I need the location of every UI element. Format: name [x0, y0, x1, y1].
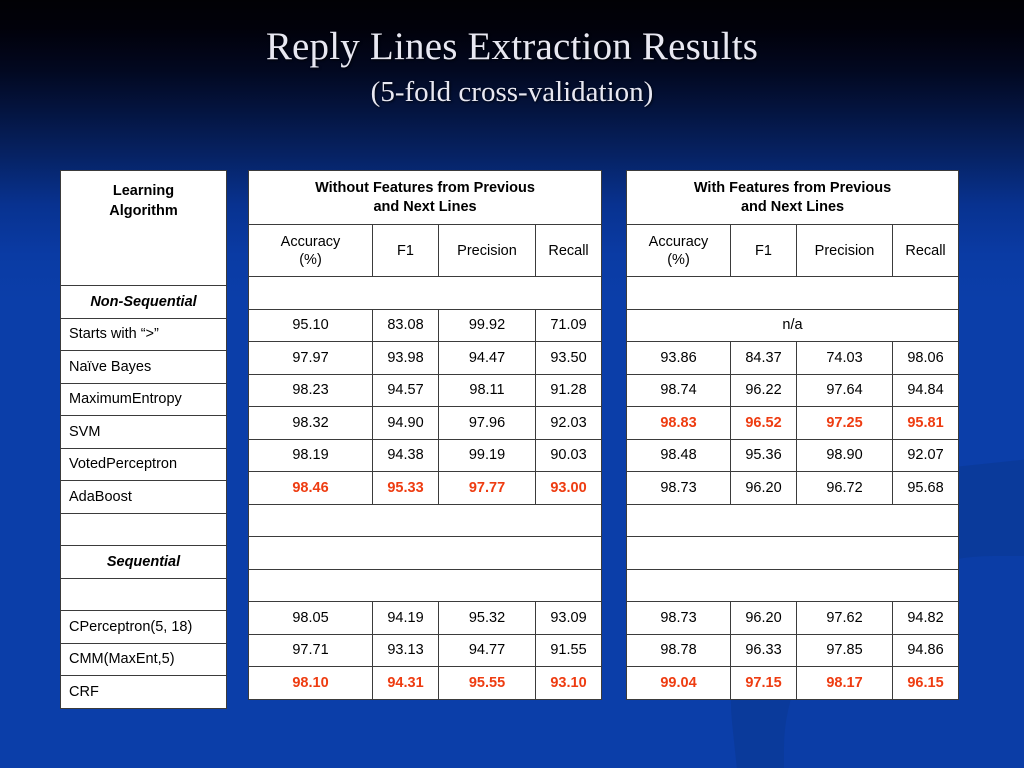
empty-cell: [249, 277, 602, 310]
value-accuracy: 98.74: [627, 374, 731, 407]
column-header-f1: F1: [373, 225, 439, 277]
value-recall: 93.50: [536, 342, 602, 375]
value-f1: 96.20: [731, 602, 797, 635]
table-row: [249, 537, 602, 570]
column-header-accuracy: Accuracy(%): [249, 225, 373, 277]
empty-cell: [627, 537, 959, 570]
page-title: Reply Lines Extraction Results: [0, 24, 1024, 70]
value-accuracy: 98.78: [627, 634, 731, 667]
value-recall: 98.06: [893, 342, 959, 375]
algorithm-name-cell: Starts with “>”: [61, 318, 227, 351]
empty-cell: [249, 569, 602, 602]
value-recall: 94.82: [893, 602, 959, 635]
value-accuracy: 98.19: [249, 439, 373, 472]
table-row: 98.7496.2297.6494.84: [627, 374, 959, 407]
table-row: CPerceptron(5, 18): [61, 611, 227, 644]
without-features-table: Without Features from Previousand Next L…: [248, 170, 602, 700]
column-header-f1: F1: [731, 225, 797, 277]
value-f1: 96.22: [731, 374, 797, 407]
column-header-precision: Precision: [439, 225, 536, 277]
value-precision: 74.03: [797, 342, 893, 375]
table-row: Without Features from Previousand Next L…: [249, 171, 602, 225]
table-row: LearningAlgorithm: [61, 171, 227, 286]
value-precision: 99.19: [439, 439, 536, 472]
table-row: 98.0594.1995.3293.09: [249, 602, 602, 635]
column-header-recall: Recall: [893, 225, 959, 277]
value-f1: 95.36: [731, 439, 797, 472]
algorithm-name-cell: [61, 513, 227, 546]
algorithm-name-cell: [61, 578, 227, 611]
with-features-body: With Features from Previousand Next Line…: [627, 171, 959, 700]
table-row: CMM(MaxEnt,5): [61, 643, 227, 676]
value-recall: 91.55: [536, 634, 602, 667]
table-row: [249, 569, 602, 602]
value-f1: 96.33: [731, 634, 797, 667]
value-accuracy: 98.46: [249, 472, 373, 505]
table-row: [627, 537, 959, 570]
value-precision: 98.11: [439, 374, 536, 407]
table-row: [249, 504, 602, 537]
value-recall: 91.28: [536, 374, 602, 407]
algorithm-name-cell: CMM(MaxEnt,5): [61, 643, 227, 676]
column-header-accuracy: Accuracy(%): [627, 225, 731, 277]
value-recall: 92.03: [536, 407, 602, 440]
value-accuracy: 97.71: [249, 634, 373, 667]
value-precision: 95.55: [439, 667, 536, 700]
value-accuracy: 98.73: [627, 602, 731, 635]
empty-cell: [627, 569, 959, 602]
page-subtitle: (5-fold cross-validation): [0, 73, 1024, 111]
column-header-recall: Recall: [536, 225, 602, 277]
table-row: [249, 277, 602, 310]
empty-cell: [249, 537, 602, 570]
row-header-label: LearningAlgorithm: [61, 171, 227, 286]
value-recall: 96.15: [893, 667, 959, 700]
value-precision: 97.85: [797, 634, 893, 667]
table-row: Starts with “>”: [61, 318, 227, 351]
value-f1: 94.31: [373, 667, 439, 700]
table-row: [627, 504, 959, 537]
empty-cell: [627, 504, 959, 537]
empty-cell: [627, 277, 959, 310]
value-accuracy: 98.05: [249, 602, 373, 635]
value-precision: 96.72: [797, 472, 893, 505]
table-row: 98.1994.3899.1990.03: [249, 439, 602, 472]
algorithm-name-cell: CPerceptron(5, 18): [61, 611, 227, 644]
with-features-table: With Features from Previousand Next Line…: [626, 170, 959, 700]
slide-canvas: Reply Lines Extraction Results (5-fold c…: [0, 0, 1024, 768]
value-accuracy: 98.73: [627, 472, 731, 505]
value-f1: 96.52: [731, 407, 797, 440]
table-row: [627, 569, 959, 602]
table-row: 98.7896.3397.8594.86: [627, 634, 959, 667]
table-row: n/a: [627, 309, 959, 342]
value-f1: 83.08: [373, 309, 439, 342]
algorithm-name-cell: MaximumEntropy: [61, 383, 227, 416]
value-recall: 94.84: [893, 374, 959, 407]
value-recall: 93.00: [536, 472, 602, 505]
value-recall: 94.86: [893, 634, 959, 667]
value-f1: 94.90: [373, 407, 439, 440]
value-f1: 94.38: [373, 439, 439, 472]
table-row: 99.0497.1598.1796.15: [627, 667, 959, 700]
value-f1: 93.13: [373, 634, 439, 667]
value-accuracy: 98.83: [627, 407, 731, 440]
table-row: Accuracy(%)F1PrecisionRecall: [627, 225, 959, 277]
value-recall: 93.09: [536, 602, 602, 635]
table-row: 93.8684.3774.0398.06: [627, 342, 959, 375]
value-accuracy: 98.10: [249, 667, 373, 700]
value-precision: 94.77: [439, 634, 536, 667]
value-precision: 97.25: [797, 407, 893, 440]
column-header-precision: Precision: [797, 225, 893, 277]
value-f1: 96.20: [731, 472, 797, 505]
value-f1: 94.19: [373, 602, 439, 635]
group-header: With Features from Previousand Next Line…: [627, 171, 959, 225]
algorithm-name-table: LearningAlgorithmNon-SequentialStarts wi…: [60, 170, 227, 709]
table-row: CRF: [61, 676, 227, 709]
table-row: Accuracy(%)F1PrecisionRecall: [249, 225, 602, 277]
table-row: Non-Sequential: [61, 286, 227, 319]
table-row: 98.4895.3698.9092.07: [627, 439, 959, 472]
value-precision: 98.17: [797, 667, 893, 700]
table-row: 98.7396.2096.7295.68: [627, 472, 959, 505]
table-row: 98.1094.3195.5593.10: [249, 667, 602, 700]
table-row: Naïve Bayes: [61, 351, 227, 384]
algorithm-name-cell: AdaBoost: [61, 481, 227, 514]
table-row: 98.3294.9097.9692.03: [249, 407, 602, 440]
table-row: SVM: [61, 416, 227, 449]
value-recall: 95.68: [893, 472, 959, 505]
value-f1: 84.37: [731, 342, 797, 375]
table-row: 95.1083.0899.9271.09: [249, 309, 602, 342]
table-row: AdaBoost: [61, 481, 227, 514]
table-row: With Features from Previousand Next Line…: [627, 171, 959, 225]
table-row: VotedPerceptron: [61, 448, 227, 481]
table-row: 97.7193.1394.7791.55: [249, 634, 602, 667]
algorithm-name-cell: CRF: [61, 676, 227, 709]
value-precision: 97.64: [797, 374, 893, 407]
table-row: 97.9793.9894.4793.50: [249, 342, 602, 375]
group-header: Without Features from Previousand Next L…: [249, 171, 602, 225]
value-precision: 97.77: [439, 472, 536, 505]
empty-cell: [249, 504, 602, 537]
value-precision: 98.90: [797, 439, 893, 472]
value-recall: 95.81: [893, 407, 959, 440]
table-row: [61, 513, 227, 546]
table-row: 98.4695.3397.7793.00: [249, 472, 602, 505]
value-precision: 94.47: [439, 342, 536, 375]
algorithm-name-body: LearningAlgorithmNon-SequentialStarts wi…: [61, 171, 227, 709]
value-accuracy: 95.10: [249, 309, 373, 342]
value-recall: 90.03: [536, 439, 602, 472]
table-row: [627, 277, 959, 310]
table-row: 98.8396.5297.2595.81: [627, 407, 959, 440]
algorithm-name-cell: SVM: [61, 416, 227, 449]
value-precision: 97.62: [797, 602, 893, 635]
value-recall: 71.09: [536, 309, 602, 342]
value-precision: 99.92: [439, 309, 536, 342]
value-precision: 95.32: [439, 602, 536, 635]
table-row: Sequential: [61, 546, 227, 579]
algorithm-name-cell: Sequential: [61, 546, 227, 579]
na-cell: n/a: [627, 309, 959, 342]
value-precision: 97.96: [439, 407, 536, 440]
algorithm-name-cell: Non-Sequential: [61, 286, 227, 319]
slide-title-block: Reply Lines Extraction Results (5-fold c…: [0, 24, 1024, 111]
value-accuracy: 99.04: [627, 667, 731, 700]
value-accuracy: 98.23: [249, 374, 373, 407]
value-recall: 92.07: [893, 439, 959, 472]
value-accuracy: 98.48: [627, 439, 731, 472]
table-row: 98.7396.2097.6294.82: [627, 602, 959, 635]
value-f1: 97.15: [731, 667, 797, 700]
value-accuracy: 97.97: [249, 342, 373, 375]
value-accuracy: 98.32: [249, 407, 373, 440]
table-row: MaximumEntropy: [61, 383, 227, 416]
value-f1: 94.57: [373, 374, 439, 407]
value-accuracy: 93.86: [627, 342, 731, 375]
table-row: 98.2394.5798.1191.28: [249, 374, 602, 407]
without-features-body: Without Features from Previousand Next L…: [249, 171, 602, 700]
value-f1: 95.33: [373, 472, 439, 505]
algorithm-name-cell: Naïve Bayes: [61, 351, 227, 384]
value-f1: 93.98: [373, 342, 439, 375]
algorithm-name-cell: VotedPerceptron: [61, 448, 227, 481]
table-row: [61, 578, 227, 611]
value-recall: 93.10: [536, 667, 602, 700]
